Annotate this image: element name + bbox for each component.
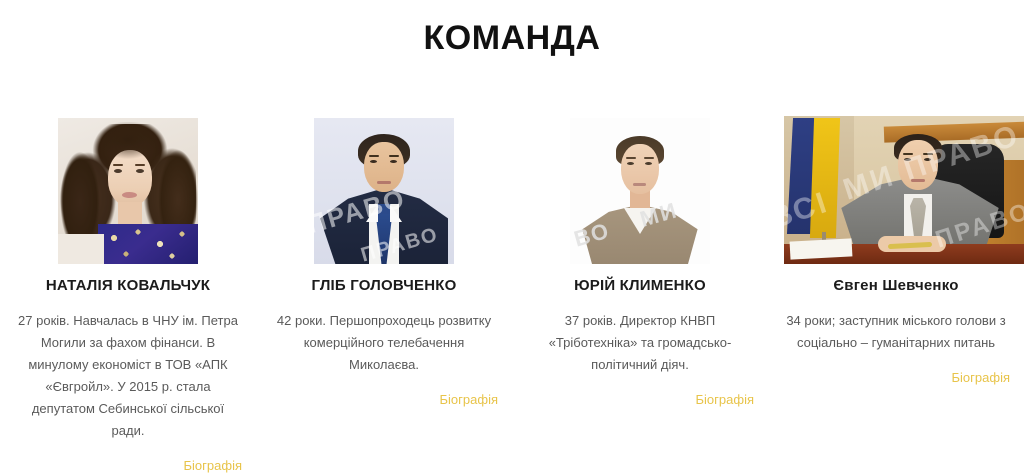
biography-link[interactable]: Біографія [0, 456, 256, 476]
member-photo-yevhen-shevchenko: ВСІ МИ ПРАВО ПРАВО [784, 116, 1024, 264]
team-member-card: НАТАЛІЯ КОВАЛЬЧУК 27 років. Навчалась в … [0, 110, 256, 476]
biography-link[interactable]: Біографія [768, 368, 1024, 388]
member-name: ЮРІЙ КЛИМЕНКО [574, 276, 706, 296]
member-photo-wrapper: ВО МИ [512, 110, 768, 264]
watermark-text: ВСІ [784, 186, 833, 237]
biography-link[interactable]: Біографія [512, 390, 768, 410]
member-photo-yurii-klymenko: ВО МИ [570, 118, 710, 264]
member-name: Євген Шевченко [833, 276, 958, 296]
watermark-text: МИ ПРАВО [839, 118, 1024, 207]
member-bio: 42 роки. Першопроходець розвитку комерці… [256, 310, 512, 376]
member-photo-wrapper: ВСІ МИ ПРАВО ПРАВО [768, 110, 1024, 264]
team-member-card: ВСІ МИ ПРАВО ПРАВО Євген Шевченко 34 рок… [768, 110, 1024, 388]
photo-watermark: ВО МИ [570, 118, 710, 264]
member-photo-wrapper [0, 110, 256, 264]
photo-watermark: ПРАВО ПРАВО [314, 118, 454, 264]
page-title: КОМАНДА [0, 0, 1024, 58]
background-fill-shape [58, 234, 104, 264]
watermark-text: ВО [571, 217, 613, 252]
member-bio: 27 років. Навчалась в ЧНУ ім. Петра Моги… [0, 310, 256, 442]
team-member-card: ВО МИ ЮРІЙ КЛИМЕНКО 37 років. Директор К… [512, 110, 768, 410]
team-grid: НАТАЛІЯ КОВАЛЬЧУК 27 років. Навчалась в … [0, 110, 1024, 476]
member-name: НАТАЛІЯ КОВАЛЬЧУК [46, 276, 210, 296]
watermark-text: МИ [637, 197, 681, 233]
member-photo-natalia-kovalchuk [58, 118, 198, 264]
member-photo-wrapper: ПРАВО ПРАВО [256, 110, 512, 264]
member-bio: 37 років. Директор КНВП «Тріботехніка» т… [512, 310, 768, 376]
watermark-text: ПРАВО [314, 183, 409, 241]
watermark-text: ПРАВО [932, 197, 1024, 254]
biography-link[interactable]: Біографія [256, 390, 512, 410]
watermark-text: ПРАВО [358, 223, 441, 264]
photo-watermark: ВСІ МИ ПРАВО ПРАВО [784, 116, 1024, 264]
member-bio: 34 роки; заступник міського голови з соц… [768, 310, 1024, 354]
member-name: ГЛІБ ГОЛОВЧЕНКО [311, 276, 456, 296]
team-member-card: ПРАВО ПРАВО ГЛІБ ГОЛОВЧЕНКО 42 роки. Пер… [256, 110, 512, 410]
member-photo-hlib-holovchenko: ПРАВО ПРАВО [314, 118, 454, 264]
patterned-dress-shape [98, 224, 198, 264]
team-page: КОМАНДА НАТАЛІЯ КОВАЛЬЧУК [0, 0, 1024, 473]
